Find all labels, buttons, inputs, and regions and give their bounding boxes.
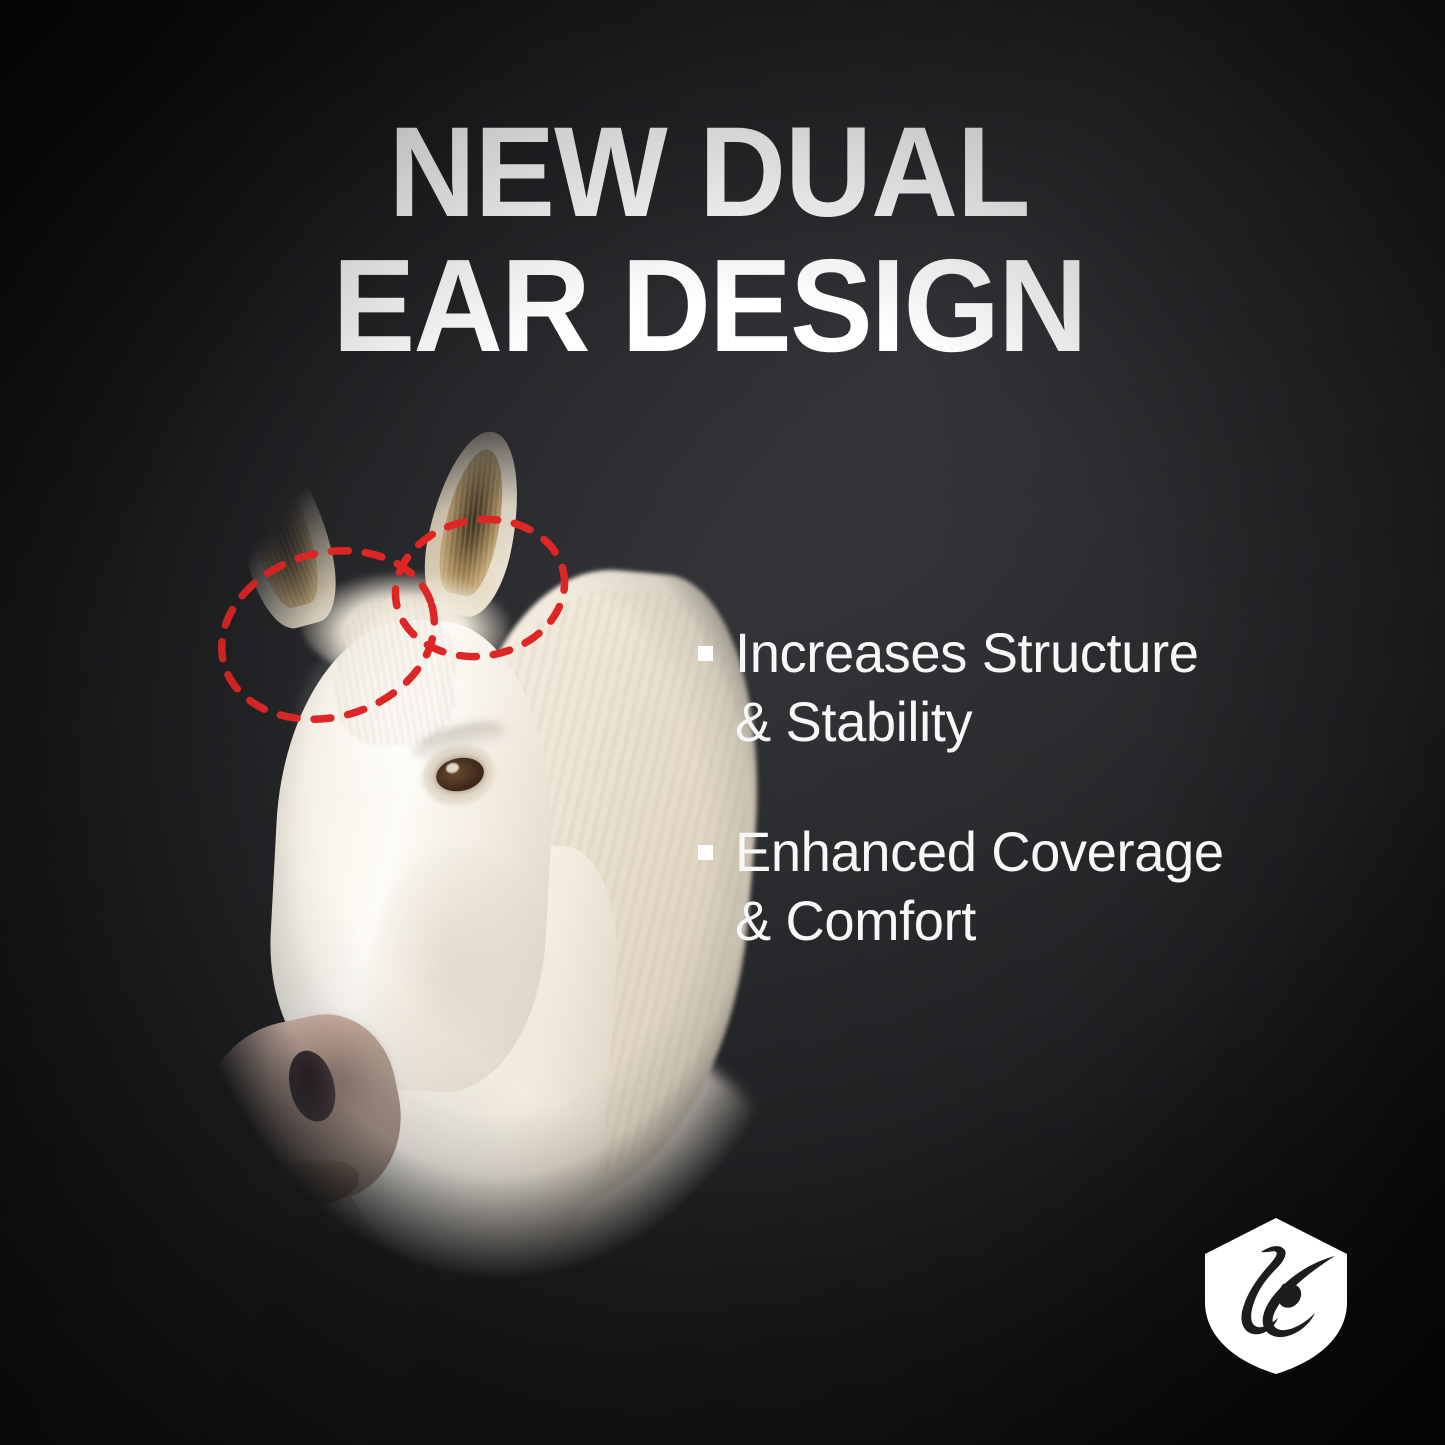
- square-bullet-icon: [698, 845, 713, 860]
- feature-text-structure: Increases Structure & Stability: [735, 618, 1199, 757]
- feature-coverage-line-1: Enhanced Coverage: [735, 820, 1224, 883]
- feature-item-coverage: Enhanced Coverage & Comfort: [698, 817, 1358, 956]
- feature-list: Increases Structure & Stability Enhanced…: [698, 618, 1358, 1016]
- feature-item-structure: Increases Structure & Stability: [698, 618, 1358, 757]
- square-bullet-icon: [698, 646, 713, 661]
- shield-k-logo-icon: [1199, 1216, 1353, 1376]
- feature-structure-line-2: & Stability: [735, 690, 972, 753]
- feature-text-coverage: Enhanced Coverage & Comfort: [735, 817, 1224, 956]
- feature-structure-line-1: Increases Structure: [735, 621, 1199, 684]
- ad-creative-canvas: NEW DUAL EAR DESIGN: [0, 0, 1445, 1445]
- feature-coverage-line-2: & Comfort: [735, 889, 976, 952]
